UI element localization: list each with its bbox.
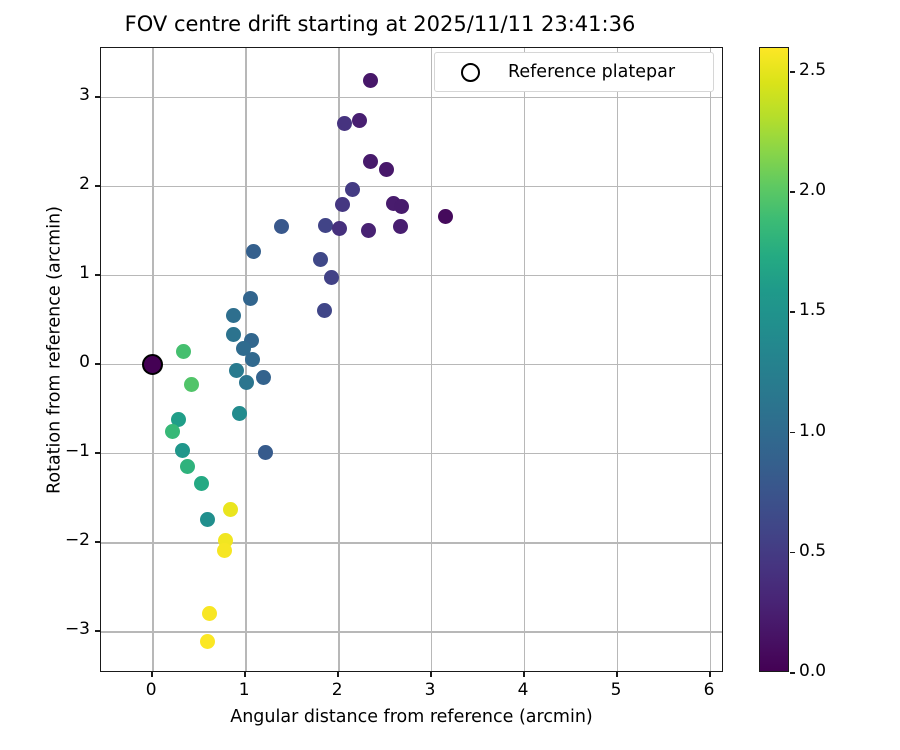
colorbar-tick-label: 1.0 bbox=[799, 421, 826, 441]
colorbar-tick bbox=[790, 191, 795, 193]
colorbar-tick-label: 2.5 bbox=[799, 60, 826, 80]
x-tick bbox=[523, 672, 525, 677]
x-tick bbox=[244, 672, 246, 677]
scatter-point bbox=[180, 459, 195, 474]
y-tick bbox=[95, 363, 100, 365]
page-title: FOV centre drift starting at 2025/11/11 … bbox=[0, 12, 760, 36]
gridline-vertical bbox=[524, 48, 525, 671]
x-axis-label: Angular distance from reference (arcmin) bbox=[100, 707, 723, 727]
y-tick bbox=[95, 541, 100, 543]
scatter-point bbox=[324, 270, 339, 285]
scatter-point bbox=[363, 154, 378, 169]
scatter-point bbox=[239, 375, 254, 390]
y-tick bbox=[95, 185, 100, 187]
gridline-horizontal bbox=[101, 631, 722, 632]
x-tick-label: 1 bbox=[224, 680, 264, 700]
scatter-point bbox=[361, 223, 376, 238]
scatter-point bbox=[258, 445, 273, 460]
gridline-vertical bbox=[617, 48, 618, 671]
scatter-point bbox=[200, 634, 215, 649]
x-tick-label: 5 bbox=[596, 680, 636, 700]
y-axis-label: Rotation from reference (arcmin) bbox=[45, 38, 65, 663]
gridline-vertical bbox=[710, 48, 711, 671]
colorbar-tick bbox=[790, 311, 795, 313]
y-tick bbox=[95, 452, 100, 454]
reference-platepar-marker-icon bbox=[461, 63, 480, 82]
y-tick bbox=[95, 274, 100, 276]
x-tick-label: 2 bbox=[317, 680, 357, 700]
x-tick bbox=[337, 672, 339, 677]
reference-platepar-point bbox=[142, 354, 163, 375]
x-tick-label: 6 bbox=[689, 680, 729, 700]
scatter-point bbox=[165, 424, 180, 439]
colorbar-tick-label: 1.5 bbox=[799, 300, 826, 320]
scatter-point bbox=[200, 512, 215, 527]
gridline-horizontal bbox=[101, 97, 722, 98]
colorbar-tick-label: 2.0 bbox=[799, 180, 826, 200]
scatter-point bbox=[226, 308, 241, 323]
scatter-point bbox=[176, 344, 191, 359]
colorbar-tick bbox=[790, 432, 795, 434]
scatter-point bbox=[345, 182, 360, 197]
x-tick bbox=[151, 672, 153, 677]
plot-area bbox=[101, 48, 722, 671]
plot-frame bbox=[100, 47, 723, 672]
gridline-horizontal bbox=[101, 186, 722, 187]
scatter-point bbox=[393, 219, 408, 234]
colorbar-tick bbox=[790, 71, 795, 73]
scatter-point bbox=[217, 543, 232, 558]
scatter-point bbox=[438, 209, 453, 224]
scatter-point bbox=[394, 199, 409, 214]
colorbar-tick-label: 0.0 bbox=[799, 661, 826, 681]
scatter-point bbox=[243, 291, 258, 306]
colorbar-tick bbox=[790, 552, 795, 554]
scatter-point bbox=[318, 218, 333, 233]
scatter-point bbox=[352, 113, 367, 128]
scatter-point bbox=[226, 327, 241, 342]
legend-entry-label: Reference platepar bbox=[508, 62, 675, 82]
gridline-horizontal bbox=[101, 453, 722, 454]
scatter-point bbox=[317, 303, 332, 318]
x-tick bbox=[709, 672, 711, 677]
x-tick bbox=[616, 672, 618, 677]
scatter-point bbox=[246, 244, 261, 259]
scatter-point bbox=[274, 219, 289, 234]
gridline-horizontal bbox=[101, 364, 722, 365]
scatter-point bbox=[223, 502, 238, 517]
legend: Reference platepar bbox=[434, 52, 714, 92]
scatter-point bbox=[363, 73, 378, 88]
colorbar-tick bbox=[790, 672, 795, 674]
scatter-point bbox=[256, 370, 271, 385]
scatter-point bbox=[202, 606, 217, 621]
gridline-horizontal bbox=[101, 275, 722, 276]
scatter-point bbox=[184, 377, 199, 392]
gridline-vertical bbox=[338, 48, 339, 671]
scatter-point bbox=[175, 443, 190, 458]
figure: FOV centre drift starting at 2025/11/11 … bbox=[0, 0, 900, 750]
x-tick-label: 0 bbox=[131, 680, 171, 700]
scatter-point bbox=[335, 197, 350, 212]
scatter-point bbox=[337, 116, 352, 131]
x-tick-label: 4 bbox=[503, 680, 543, 700]
colorbar bbox=[759, 47, 789, 672]
x-tick-label: 3 bbox=[410, 680, 450, 700]
gridline-horizontal bbox=[101, 542, 722, 543]
scatter-point bbox=[194, 476, 209, 491]
y-tick bbox=[95, 630, 100, 632]
gridline-vertical bbox=[431, 48, 432, 671]
scatter-point bbox=[313, 252, 328, 267]
scatter-point bbox=[379, 162, 394, 177]
scatter-point bbox=[332, 221, 347, 236]
colorbar-tick-label: 0.5 bbox=[799, 541, 826, 561]
x-tick bbox=[430, 672, 432, 677]
y-tick bbox=[95, 96, 100, 98]
colorbar-gradient bbox=[760, 48, 788, 671]
